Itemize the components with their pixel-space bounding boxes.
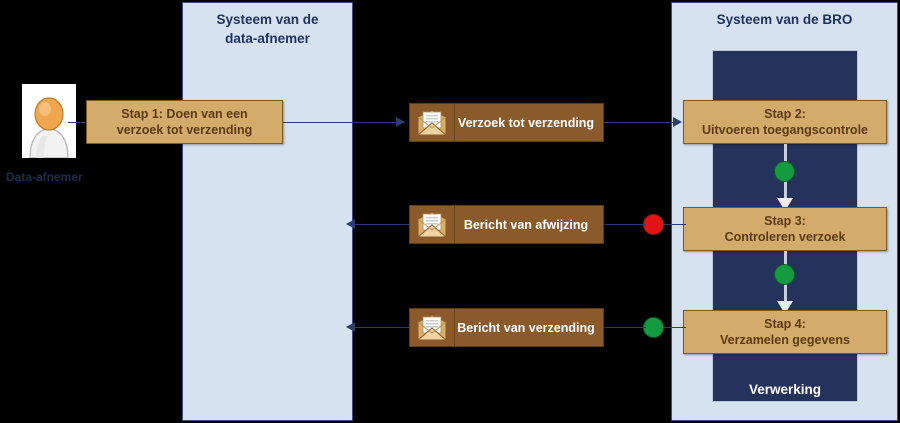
message-label-bericht-van-afwijzing: Bericht van afwijzing <box>455 218 603 232</box>
step-box-stap-1[interactable]: Stap 1: Doen van een verzoek tot verzend… <box>86 100 283 144</box>
message-label-verzoek-tot-verzending: Verzoek tot verzending <box>455 116 603 130</box>
user-avatar-icon <box>22 84 76 158</box>
message-box-bericht-van-verzending[interactable]: Bericht van verzending <box>409 308 604 347</box>
arrow-afwijzing-lane <box>346 219 355 229</box>
swimlane-bro-title: Systeem van de BRO <box>671 10 898 29</box>
connector-verzoek-stap2 <box>604 122 680 123</box>
connector-avatar-stap1 <box>68 122 88 123</box>
arrow-verzending-lane <box>346 322 355 332</box>
envelope-icon <box>410 309 455 346</box>
avatar <box>22 84 76 158</box>
message-label-bericht-van-verzending: Bericht van verzending <box>455 321 603 335</box>
step-box-stap-3[interactable]: Stap 3: Controleren verzoek <box>683 207 887 251</box>
message-box-verzoek-tot-verzending[interactable]: Verzoek tot verzending <box>409 103 604 142</box>
connector-verzending-lane <box>352 327 409 328</box>
arrow-verzoek-stap2 <box>673 117 682 127</box>
swimlane-data-afnemer <box>182 2 353 421</box>
step-box-stap-2[interactable]: Stap 2: Uitvoeren toegangscontrole <box>683 100 887 144</box>
diagram-canvas: Systeem van de data-afnemer Systeem van … <box>0 0 900 423</box>
envelope-icon <box>410 104 455 141</box>
status-dot-stap3-stap4 <box>774 264 795 285</box>
connector-stap4-verzending-right <box>662 327 686 328</box>
envelope-icon <box>410 206 455 243</box>
actor-label: Data-afnemer <box>6 170 83 184</box>
status-dot-afwijzing <box>643 214 664 235</box>
connector-stap3-afwijzing-right <box>662 224 686 225</box>
processing-block-label: Verwerking <box>712 382 858 397</box>
swimlane-data-afnemer-title: Systeem van de data-afnemer <box>182 10 353 48</box>
connector-verzending-left <box>604 327 646 328</box>
connector-afwijzing-lane <box>352 224 409 225</box>
status-dot-verzending <box>643 317 664 338</box>
connector-afwijzing-left <box>604 224 646 225</box>
message-box-bericht-van-afwijzing[interactable]: Bericht van afwijzing <box>409 205 604 244</box>
arrow-stap1-verzoek <box>396 117 405 127</box>
status-dot-stap2-stap3 <box>774 161 795 182</box>
connector-stap1-verzoek <box>283 122 405 123</box>
step-box-stap-4[interactable]: Stap 4: Verzamelen gegevens <box>683 310 887 354</box>
